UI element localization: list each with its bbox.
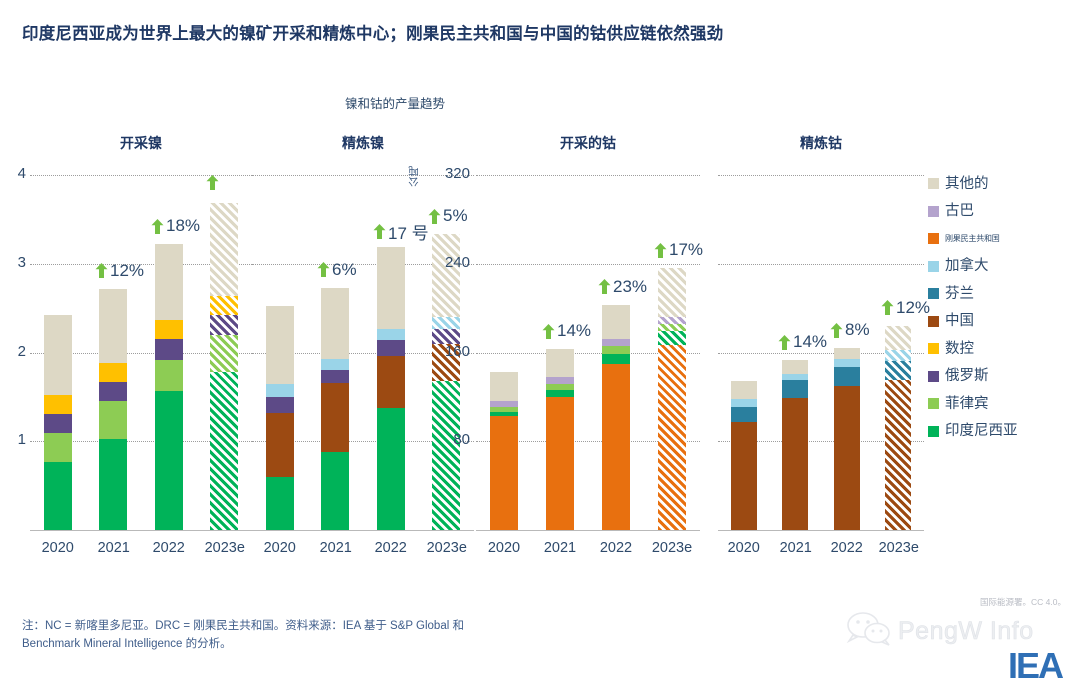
chart-panel-4: 精炼钴2020202114%20228%2023e12% [718,130,924,560]
legend-item-label: 芬兰 [945,287,974,302]
growth-callout-label: 6% [332,260,357,280]
legend-item-philippines[interactable]: 菲律宾 [928,390,1078,418]
bar-segment-china [731,422,757,530]
bar-segment-china [377,356,405,407]
bar-segment-finland [731,407,757,423]
legend-swatch-icon [928,426,939,437]
x-axis-tick-label: 2021 [86,540,142,556]
legend-item-label: 刚果民主共和国 [945,235,1000,243]
growth-callout-label: 23% [613,277,647,297]
watermark-text: PengW Info [898,617,1034,646]
bar-2020[interactable] [266,306,294,530]
bar-segment-indonesia [321,452,349,530]
legend-item-nc[interactable]: 数控 [928,335,1078,363]
bar-segment-canada [377,329,405,341]
x-axis-tick-label: 2023e [197,540,253,556]
gridline [476,264,700,265]
legend-swatch-icon [928,288,939,299]
bar-2022[interactable] [834,348,860,530]
legend-item-cuba[interactable]: 古巴 [928,198,1078,226]
bar-2023e[interactable] [432,234,460,530]
y-axis-tick-label: 4 [0,165,26,182]
bar-2021[interactable] [321,288,349,530]
bar-segment-philippines [602,346,630,354]
chart-panel-3: 开采的钴80160240320公吨2020202114%202223%2023e… [476,130,700,560]
bar-segment-nc [210,296,238,316]
iea-logo: IEA [1008,645,1062,687]
x-axis-tick-label: 2020 [476,540,532,556]
bar-segment-cuba [490,401,518,407]
bar-2020[interactable] [490,372,518,530]
y-axis-tick-label: 1 [0,431,26,448]
growth-callout-label: 8% [845,320,870,340]
chart-panel-1: 开采镍1234公吨2020202112%202218%2023e [30,130,252,560]
y-axis-tick-label: 2 [0,343,26,360]
bar-segment-china [885,380,911,530]
x-axis-tick-label: 2022 [141,540,197,556]
legend-swatch-icon [928,206,939,217]
bar-segment-russia [432,329,460,344]
legend-item-label: 中国 [945,314,974,329]
bar-segment-indonesia [44,462,72,530]
legend-item-label: 印度尼西亚 [945,424,1018,439]
bar-segment-indonesia [377,408,405,530]
y-axis-tick-label: 3 [0,254,26,271]
bar-segment-philippines [44,433,72,461]
growth-callout-label: 12% [110,261,144,281]
legend-item-label: 古巴 [945,204,974,219]
axis-baseline [30,530,252,531]
bar-segment-russia [44,414,72,434]
legend-item-finland[interactable]: 芬兰 [928,280,1078,308]
growth-callout-2022: 17 号 [373,219,429,244]
x-axis-tick-label: 2023e [644,540,700,556]
panel-title: 精炼镍 [252,133,474,153]
gridline [718,175,924,176]
growth-callout-label: 18% [166,216,200,236]
bar-segment-other [731,381,757,399]
legend-swatch-icon [928,261,939,272]
bar-segment-philippines [658,324,686,332]
legend-item-canada[interactable]: 加拿大 [928,253,1078,281]
y-axis-tick-label: 160 [424,343,470,360]
legend-item-label: 其他的 [945,177,989,192]
bar-segment-finland [885,361,911,380]
bar-segment-cuba [658,317,686,324]
growth-callout-2023e: 17% [654,240,703,260]
bar-segment-other [885,326,911,350]
legend-item-label: 菲律宾 [945,397,989,412]
arrow-up-icon [373,224,386,239]
gridline [476,175,700,176]
page-title: 印度尼西亚成为世界上最大的镍矿开采和精炼中心；刚果民主共和国与中国的钴供应链依然… [22,20,1022,44]
bar-segment-indonesia [490,412,518,415]
x-axis-tick-label: 2020 [30,540,86,556]
bar-segment-other [658,268,686,317]
growth-callout-label: 5% [443,206,468,226]
legend-item-label: 俄罗斯 [945,369,989,384]
legend-item-label: 加拿大 [945,259,989,274]
bar-2023e[interactable] [210,203,238,530]
legend-item-china[interactable]: 中国 [928,308,1078,336]
bar-segment-other [834,348,860,359]
bar-segment-china [266,413,294,477]
bar-segment-indonesia [155,391,183,530]
bar-segment-other [210,203,238,295]
y-axis-tick-label: 240 [424,254,470,271]
bar-2020[interactable] [44,315,72,530]
bar-segment-canada [432,317,460,329]
arrow-up-icon [151,219,164,234]
bar-segment-canada [266,384,294,397]
bar-2021[interactable] [99,289,127,530]
legend-item-russia[interactable]: 俄罗斯 [928,363,1078,391]
growth-callout-2021: 6% [317,260,357,280]
bar-segment-other [321,288,349,359]
bar-segment-other [377,247,405,329]
bar-segment-drc [546,397,574,530]
legend-swatch-icon [928,371,939,382]
bar-segment-nc [44,395,72,414]
y-axis-tick-label: 320 [424,165,470,182]
bar-segment-other [44,315,72,395]
bar-segment-other [490,372,518,401]
bar-2022[interactable] [377,247,405,530]
growth-callout-2022: 18% [151,216,200,236]
axis-baseline [252,530,474,531]
legend-swatch-icon [928,316,939,327]
bar-2021[interactable] [546,349,574,530]
arrow-up-icon [778,335,791,350]
legend-swatch-icon [928,398,939,409]
x-axis-tick-label: 2021 [770,540,822,556]
arrow-up-icon [654,243,667,258]
growth-callout-2021: 14% [778,332,827,352]
bar-2023e[interactable] [885,326,911,530]
bar-segment-other [266,306,294,383]
bar-segment-philippines [210,335,238,372]
x-axis-tick-label: 2022 [363,540,419,556]
panel-title: 开采镍 [30,133,252,153]
bar-segment-indonesia [210,372,238,530]
wechat-icon [846,612,892,651]
x-axis-tick-label: 2020 [252,540,308,556]
x-axis-tick-label: 2023e [419,540,475,556]
bar-segment-cuba [546,377,574,384]
growth-callout-2022: 8% [830,320,870,340]
bar-segment-indonesia [266,477,294,530]
bar-segment-canada [885,350,911,361]
gridline [718,264,924,265]
watermark: PengW Info [846,612,1034,651]
arrow-up-icon [830,323,843,338]
growth-callout-2021: 14% [542,321,591,341]
bar-segment-philippines [546,384,574,391]
x-axis-tick-label: 2021 [308,540,364,556]
legend-item-label: 数控 [945,342,974,357]
bar-segment-indonesia [546,390,574,397]
growth-callout-2023e [206,175,221,190]
bar-segment-canada [321,359,349,371]
x-axis-tick-label: 2022 [821,540,873,556]
arrow-up-icon [317,262,330,277]
bar-segment-indonesia [432,381,460,530]
bar-segment-indonesia [602,354,630,364]
bar-segment-philippines [99,401,127,438]
growth-callout-2022: 23% [598,277,647,297]
y-axis-tick-label: 80 [424,431,470,448]
x-axis-tick-label: 2021 [532,540,588,556]
growth-callout-label: 14% [557,321,591,341]
bar-segment-cuba [602,339,630,346]
bar-segment-china [321,383,349,452]
growth-callout-label: 12% [896,298,930,318]
chart-subtitle: 镍和钴的产量趋势 [0,93,790,112]
bar-segment-russia [155,339,183,359]
legend-item-other[interactable]: 其他的 [928,170,1078,198]
bar-2022[interactable] [602,305,630,530]
x-axis-tick-label: 2023e [873,540,925,556]
bar-segment-drc [658,345,686,530]
bar-segment-finland [782,380,808,398]
bar-segment-philippines [155,360,183,391]
bar-segment-drc [602,364,630,530]
bar-segment-other [155,244,183,319]
arrow-up-icon [206,175,219,190]
axis-baseline [718,530,924,531]
bar-segment-indonesia [658,331,686,344]
growth-callout-label: 17 号 [388,219,429,244]
arrow-up-icon [95,263,108,278]
arrow-up-icon [881,300,894,315]
bar-segment-other [602,305,630,339]
bar-segment-finland [834,367,860,386]
legend-swatch-icon [928,233,939,244]
bar-segment-philippines [490,407,518,413]
x-axis-tick-label: 2022 [588,540,644,556]
x-axis-tick-label: 2020 [718,540,770,556]
bar-segment-other [99,289,127,364]
axis-baseline [476,530,700,531]
bar-2021[interactable] [782,360,808,530]
bar-2020[interactable] [731,381,757,530]
growth-callout-2021: 12% [95,261,144,281]
bar-segment-canada [834,359,860,367]
bar-segment-russia [99,382,127,402]
legend-swatch-icon [928,343,939,354]
arrow-up-icon [542,324,555,339]
bar-segment-canada [731,399,757,407]
growth-callout-label: 14% [793,332,827,352]
bar-segment-other [432,234,460,317]
bar-segment-other [782,360,808,373]
chart-canvas: 开采镍1234公吨2020202112%202218%2023e精炼镍20202… [0,130,1080,560]
bar-segment-china [834,386,860,530]
panel-title: 开采的钴 [476,133,700,153]
growth-callout-2023e: 12% [881,298,930,318]
bar-segment-russia [321,370,349,382]
bar-segment-canada [782,374,808,381]
bar-segment-russia [266,397,294,413]
legend-item-drc[interactable]: 刚果民主共和国 [928,225,1078,253]
bar-segment-russia [377,340,405,356]
growth-callout-2023e: 5% [428,206,468,226]
chart-note: 注：NC = 新喀里多尼亚。DRC = 刚果民主共和国。资料来源：IEA 基于 … [22,618,522,654]
y-axis-unit-label: 公吨 [406,166,421,187]
legend-swatch-icon [928,178,939,189]
panel-title: 精炼钴 [718,133,924,153]
bar-2022[interactable] [155,244,183,530]
legend-item-indonesia[interactable]: 印度尼西亚 [928,418,1078,446]
arrow-up-icon [428,209,441,224]
chart-legend: 其他的古巴刚果民主共和国加拿大芬兰中国数控俄罗斯菲律宾印度尼西亚 [928,170,1078,445]
bar-segment-indonesia [99,439,127,530]
iea-credit: 国际能源署。CC 4.0。 [980,596,1066,608]
bar-segment-nc [155,320,183,340]
bar-segment-russia [210,315,238,335]
arrow-up-icon [598,279,611,294]
growth-callout-label: 17% [669,240,703,260]
bar-segment-drc [490,416,518,530]
bar-2023e[interactable] [658,268,686,530]
bar-segment-china [782,398,808,530]
bar-segment-nc [99,363,127,382]
bar-segment-other [546,349,574,377]
